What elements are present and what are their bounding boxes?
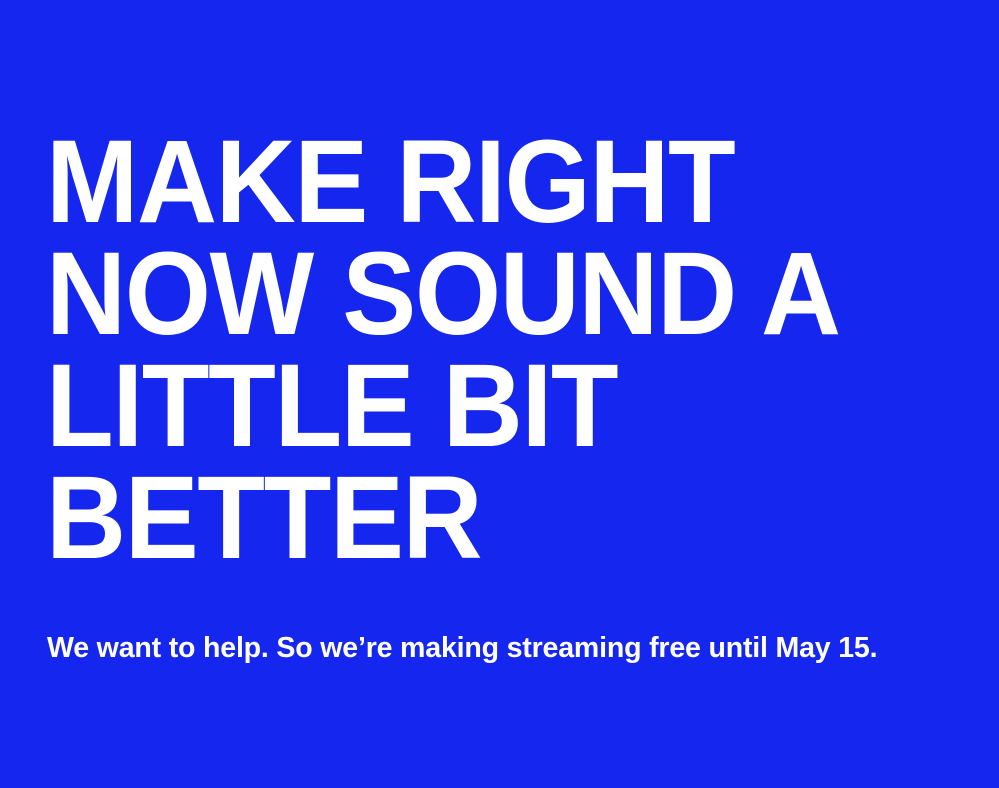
headline-line-1: MAKE RIGHT — [46, 126, 930, 238]
promo-banner: MAKE RIGHT NOW SOUND A LITTLE BIT BETTER… — [0, 0, 999, 788]
headline-line-4: BETTER — [46, 462, 930, 574]
headline-line-2: NOW SOUND A — [46, 238, 930, 350]
headline: MAKE RIGHT NOW SOUND A LITTLE BIT BETTER — [46, 126, 986, 574]
headline-line-3: LITTLE BIT — [46, 350, 930, 462]
subtitle: We want to help. So we’re making streami… — [47, 630, 877, 666]
